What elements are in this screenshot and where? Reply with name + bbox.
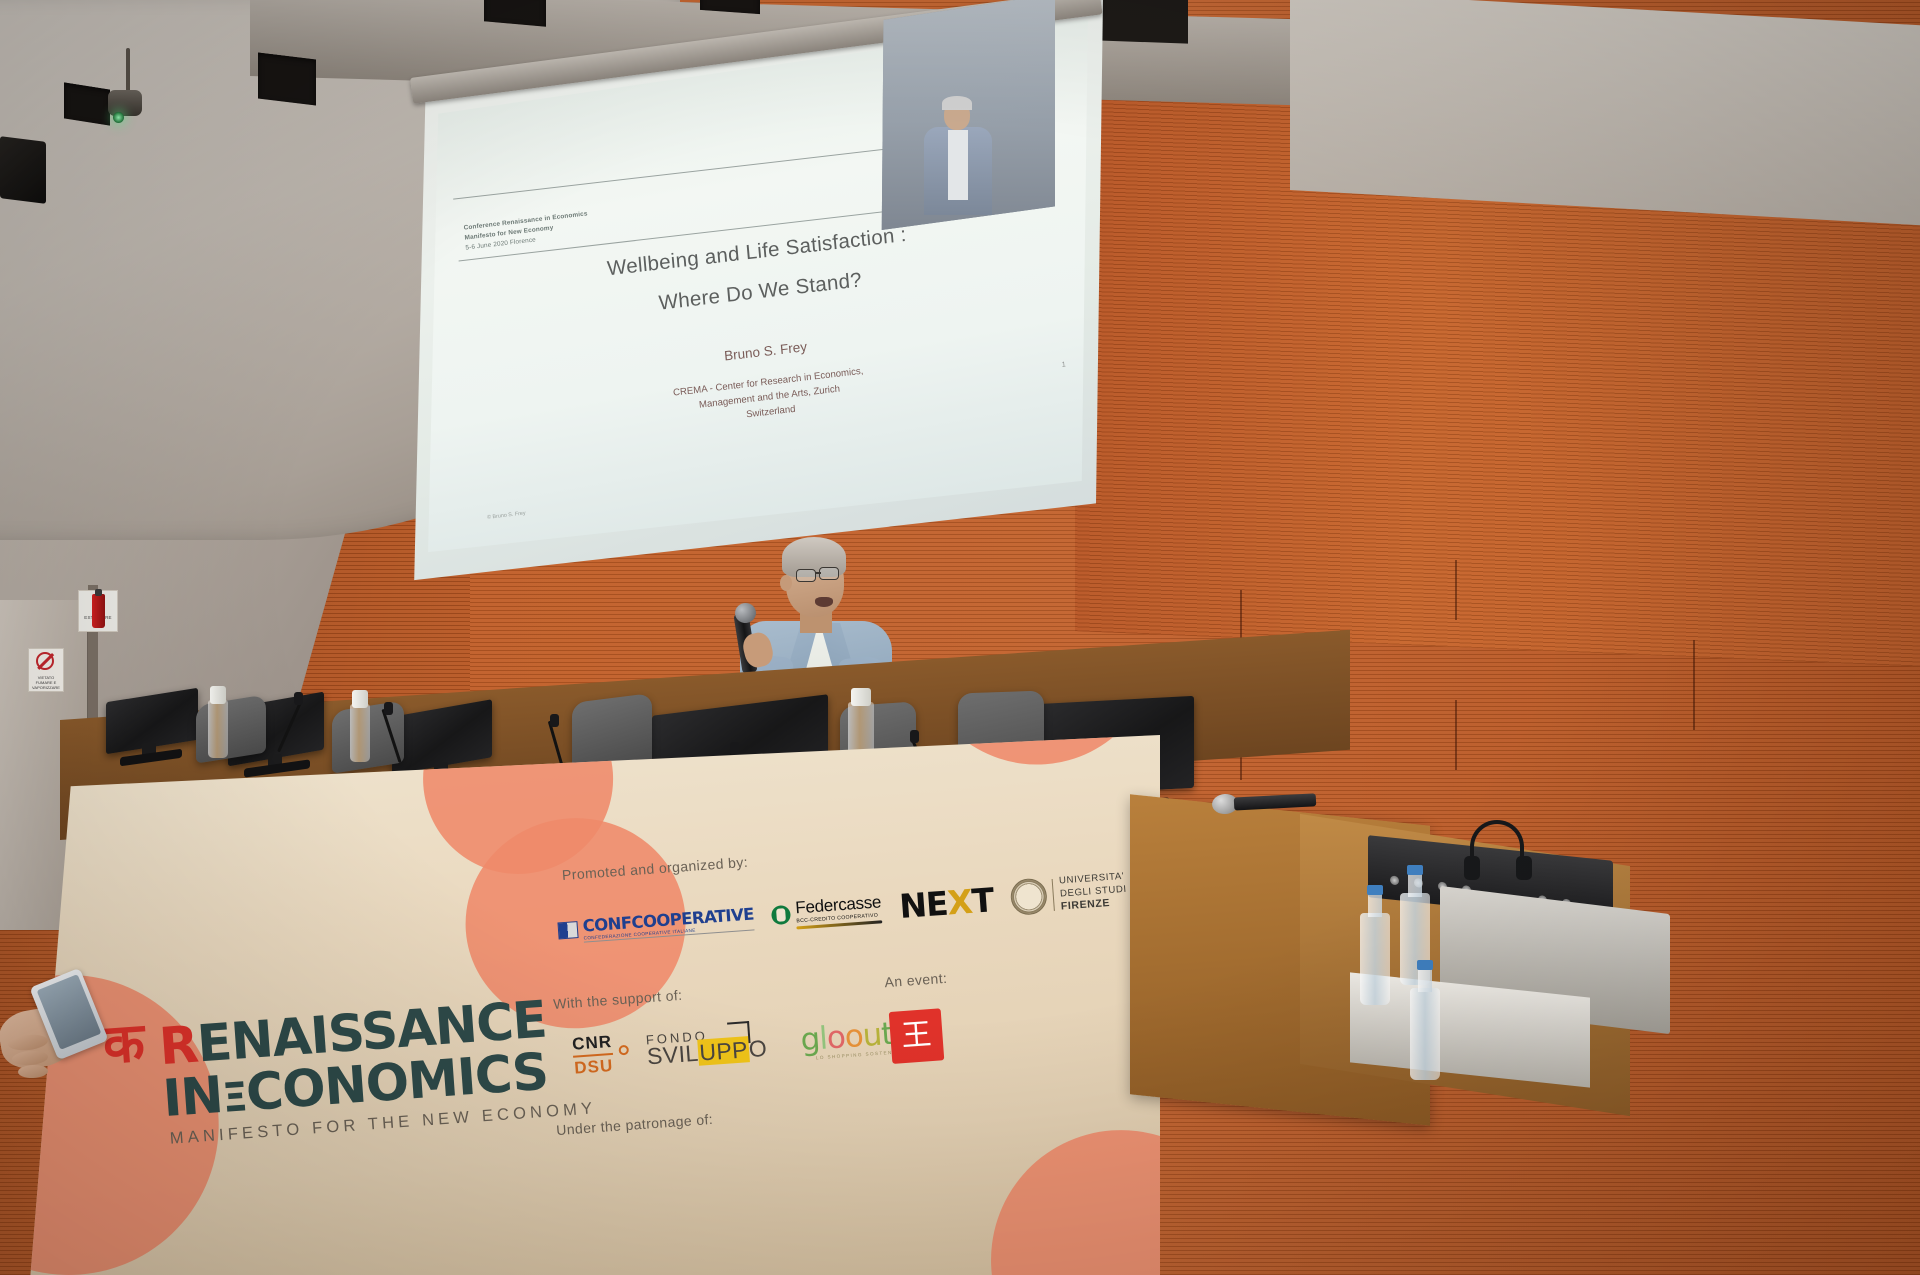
conference-photo-scene: ESTINTORE VIETATO FUMARE E VAPORIZZARE C… xyxy=(0,0,1920,1275)
ceiling-panel-right xyxy=(1290,0,1920,227)
wall-seam xyxy=(1455,700,1457,770)
wall-seam xyxy=(1455,560,1457,620)
bottle-cap xyxy=(1367,885,1384,895)
slide-page-number: 1 xyxy=(1062,361,1066,368)
audience-hand-with-phone xyxy=(0,975,120,1115)
video-feed-person-hair xyxy=(942,96,972,110)
federcasse-mark-icon xyxy=(771,905,791,925)
mixer-knob[interactable] xyxy=(1390,875,1399,885)
fondo-line2-b: O xyxy=(748,1035,768,1062)
sponsor-logo-next: NEXT xyxy=(898,880,995,926)
glasses-icon xyxy=(819,567,839,580)
ceiling-recess-box xyxy=(258,52,316,105)
sponsor-logo-cnr: CNR DSU xyxy=(572,1032,615,1078)
water-bottle xyxy=(1410,960,1440,1080)
ceiling-recess-box xyxy=(64,82,110,125)
unifi-seal-icon xyxy=(1010,878,1048,916)
bottle-body xyxy=(1410,988,1440,1080)
microphone-body xyxy=(1234,793,1317,810)
bottle-cap xyxy=(851,688,871,706)
desk-microphone xyxy=(258,690,318,756)
glasses-bridge-icon xyxy=(815,572,821,574)
microphone-gooseneck xyxy=(381,709,401,763)
sponsor-logo-federcasse: Federcasse BCC-CREDITO COOPERATIVO xyxy=(771,892,883,931)
unifi-divider xyxy=(1052,879,1055,911)
wall-seam xyxy=(1693,640,1695,730)
water-bottle xyxy=(208,686,228,758)
sponsor-logo-unifi: UNIVERSITA' DEGLI STUDI FIRENZE xyxy=(1010,871,1128,918)
slide-copyright: © Bruno S. Frey xyxy=(487,510,526,520)
spotlight-head xyxy=(108,90,142,116)
next-prefix: NE xyxy=(898,884,949,926)
next-suffix: T xyxy=(970,880,994,920)
microphone-capsule-icon xyxy=(294,692,303,705)
water-bottle xyxy=(1360,885,1390,1005)
unifi-wordmark: UNIVERSITA' DEGLI STUDI FIRENZE xyxy=(1059,871,1128,914)
fire-extinguisher-valve-icon xyxy=(95,589,102,596)
banner-decor-blob xyxy=(982,1121,1160,1275)
video-feed-inset xyxy=(880,0,1055,230)
bottle-body xyxy=(1360,913,1390,1005)
microphone-capsule-icon xyxy=(384,702,393,715)
spotlight-lens-icon xyxy=(113,112,124,123)
fire-extinguisher-icon xyxy=(92,594,105,628)
cnr-dot-icon xyxy=(618,1045,629,1056)
headphone-earcup xyxy=(1516,856,1532,880)
glasses-icon xyxy=(796,569,816,582)
sponsor-logo-confcooperative: CONFCOOPERATIVE CONFEDERAZIONE COOPERATI… xyxy=(557,904,755,944)
headphone-earcup xyxy=(1464,856,1480,880)
no-smoking-line3: VAPORIZZARE xyxy=(31,685,61,690)
event-organizer-mark-icon: 王 xyxy=(889,1008,945,1064)
chair xyxy=(196,694,266,763)
desk-microphone xyxy=(366,700,426,766)
next-accent-letter: X xyxy=(946,882,973,923)
event-label: An event: xyxy=(884,970,948,990)
bottle-cap xyxy=(210,686,225,704)
spotlight-arm xyxy=(126,48,130,94)
slide-affiliation-line2: Management and the Arts, Zurich xyxy=(433,352,1098,445)
wall-loudspeaker xyxy=(0,136,46,204)
logo-line2-prefix: IN xyxy=(161,1066,224,1129)
hand-finger xyxy=(18,1064,48,1078)
fondo-square-icon xyxy=(727,1021,751,1045)
microphone-capsule-icon xyxy=(910,730,919,743)
video-feed-person-shirt xyxy=(948,130,968,200)
microphone-capsule-icon xyxy=(730,742,739,755)
speaker-ear xyxy=(780,575,792,591)
bottle-cap xyxy=(1417,960,1434,970)
speaker-mouth xyxy=(815,597,833,607)
sponsor-logo-fondosviluppo: FONDO SVILUPPO xyxy=(646,1026,768,1069)
event-banner-content: क RENAISSANCE INΞCONOMICS MANIFESTO FOR … xyxy=(30,735,1160,1275)
unifi-line3: FIRENZE xyxy=(1061,897,1111,912)
support-sponsor-row: CNR DSU FONDO SVILUPPO gloouto LO SHOPPI… xyxy=(572,1011,912,1079)
microphone-gooseneck xyxy=(277,702,301,752)
bottle-cap xyxy=(1407,865,1424,875)
event-banner: क RENAISSANCE INΞCONOMICS MANIFESTO FOR … xyxy=(30,735,1160,1275)
cnr-bottom: DSU xyxy=(573,1055,614,1078)
microphone-capsule-icon xyxy=(550,714,559,727)
fondo-line2-a: SVIL xyxy=(646,1040,699,1070)
bottle-body xyxy=(208,700,228,758)
confcooperative-mark-icon xyxy=(557,921,578,939)
cnr-top: CNR xyxy=(572,1032,613,1055)
